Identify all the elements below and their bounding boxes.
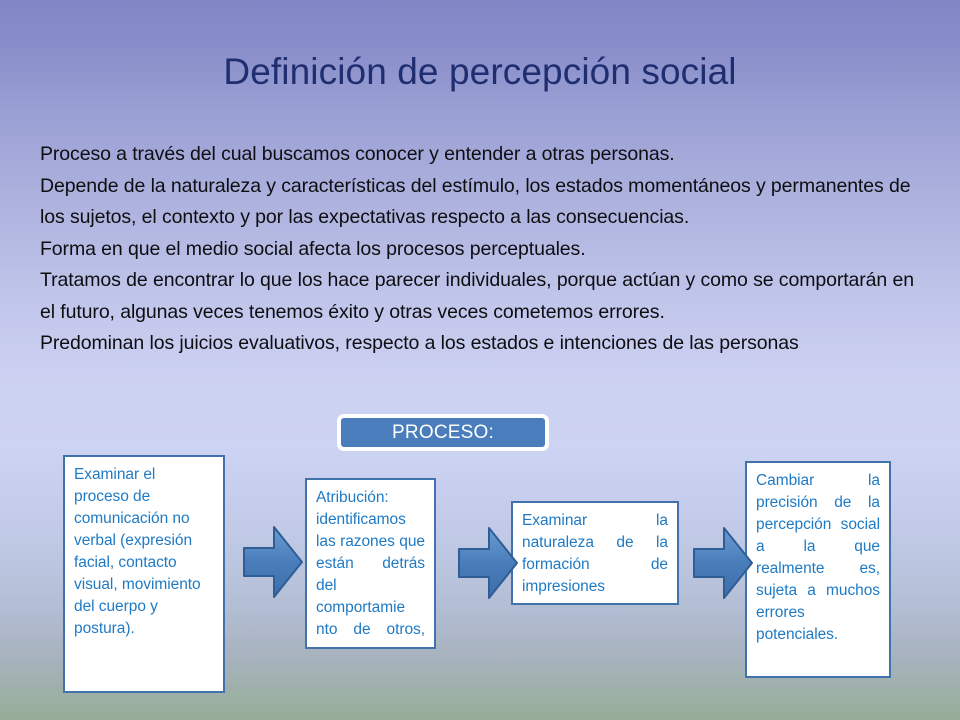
body-paragraph: Proceso a través del cual buscamos conoc… — [40, 139, 920, 360]
body-line-1: Proceso a través del cual buscamos conoc… — [40, 139, 920, 171]
proceso-banner: PROCESO: — [337, 414, 549, 451]
body-line-3: Forma en que el medio social afecta los … — [40, 234, 920, 266]
proceso-banner-label: PROCESO: — [392, 422, 494, 444]
process-step-box-3: Examinar la naturaleza de la formación d… — [511, 501, 679, 605]
body-line-2: Depende de la naturaleza y característic… — [40, 171, 920, 234]
arrow-right-icon — [457, 525, 519, 601]
process-step-box-2: Atribución: identificamos las razones qu… — [305, 478, 436, 649]
arrow-right-icon — [692, 525, 754, 601]
slide-canvas: Definición de percepción social Proceso … — [0, 0, 960, 720]
body-line-5: Predominan los juicios evaluativos, resp… — [40, 328, 920, 360]
process-step-text-3: Examinar la naturaleza de la formación d… — [522, 510, 668, 620]
process-step-box-4: Cambiar la precisión de la percepción so… — [745, 461, 891, 678]
body-line-4: Tratamos de encontrar lo que los hace pa… — [40, 265, 920, 328]
process-step-box-1: Examinar el proceso de comunicación no v… — [63, 455, 225, 693]
process-step-text-1: Examinar el proceso de comunicación no v… — [74, 464, 214, 640]
process-step-text-4: Cambiar la precisión de la percepción so… — [756, 470, 880, 668]
arrow-right-icon — [242, 524, 304, 600]
process-step-text-2: Atribución: identificamos las razones qu… — [316, 487, 425, 663]
slide-title: Definición de percepción social — [0, 52, 960, 93]
